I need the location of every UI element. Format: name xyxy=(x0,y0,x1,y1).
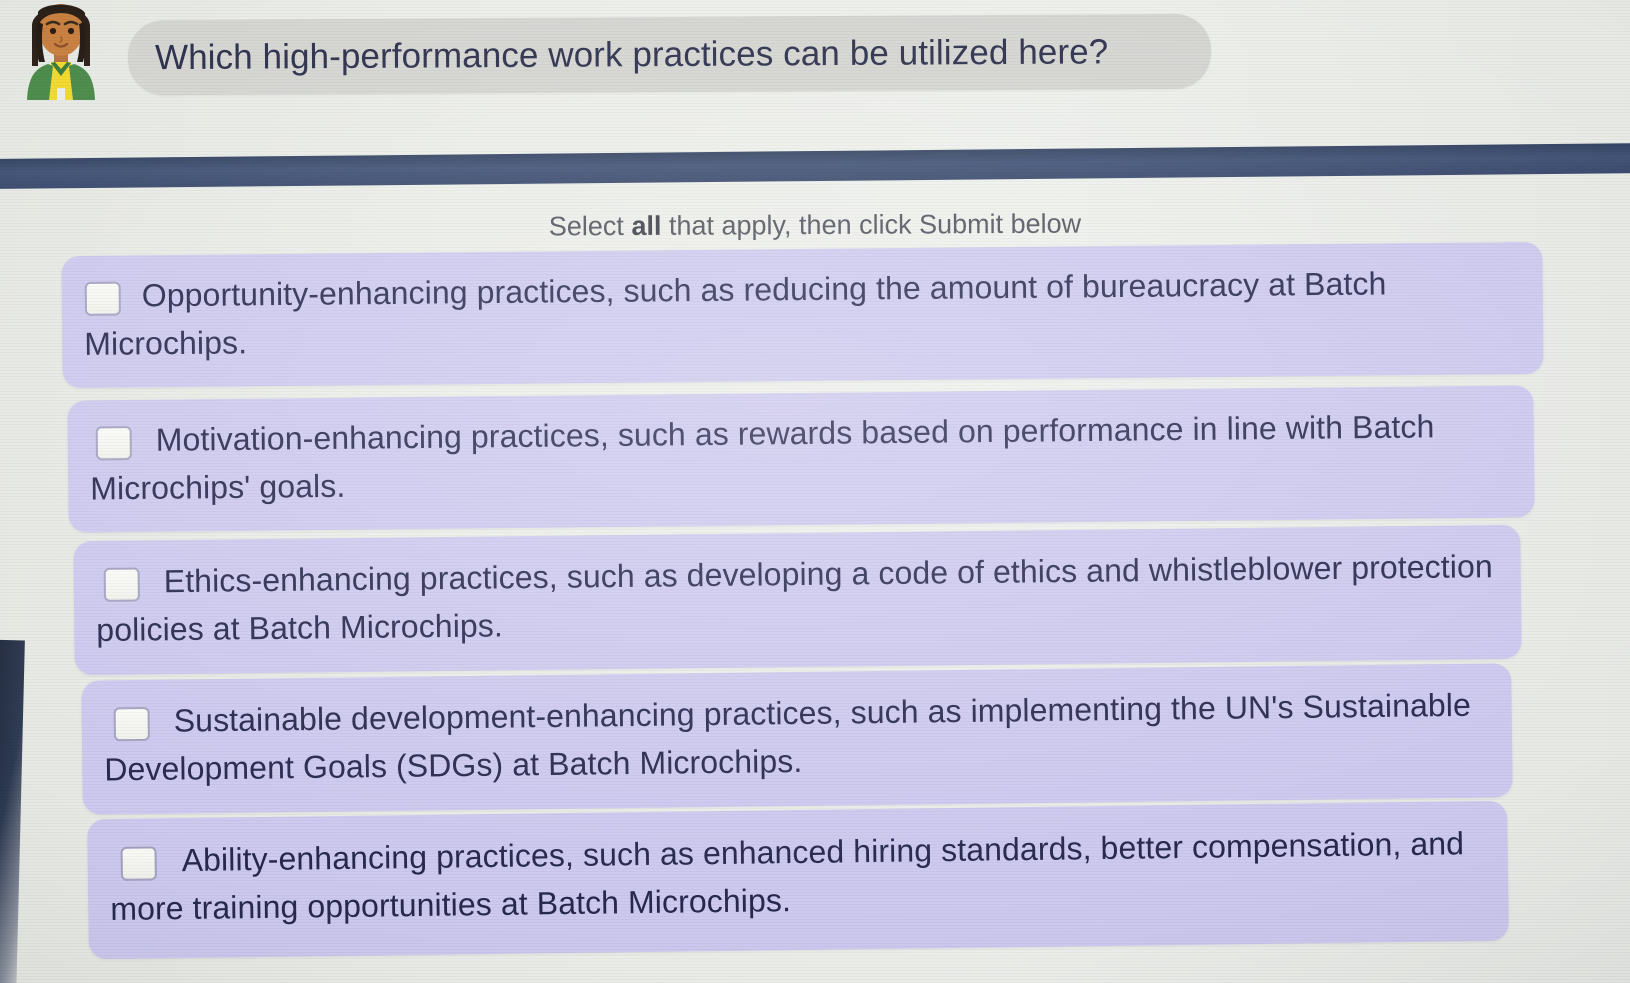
checkbox-sustainable-development-enhancing[interactable] xyxy=(114,707,150,741)
answer-option-ethics-enhancing[interactable]: Ethics-enhancing practices, such as deve… xyxy=(73,525,1521,675)
avatar xyxy=(18,0,104,100)
checkbox-ability-enhancing[interactable] xyxy=(121,846,157,880)
answer-option-sustainable-development-enhancing[interactable]: Sustainable development-enhancing practi… xyxy=(81,663,1513,814)
quiz-screen-photo: Which high-performance work practices ca… xyxy=(0,0,1630,983)
checkbox-motivation-enhancing[interactable] xyxy=(96,426,132,460)
instruction-suffix: that apply, then click Submit below xyxy=(661,209,1081,241)
question-region: Which high-performance work practices ca… xyxy=(0,0,1630,150)
instruction-prefix: Select xyxy=(549,211,632,241)
answer-option-ability-enhancing[interactable]: Ability-enhancing practices, such as enh… xyxy=(87,801,1509,960)
answer-option-motivation-enhancing[interactable]: Motivation-enhancing practices, such as … xyxy=(67,385,1534,532)
answer-option-opportunity-enhancing[interactable]: Opportunity-enhancing practices, such as… xyxy=(61,242,1543,388)
answer-option-label: Ability-enhancing practices, such as enh… xyxy=(109,819,1490,933)
answer-option-label: Sustainable development-enhancing practi… xyxy=(103,680,1499,793)
student-avatar-icon xyxy=(18,0,104,100)
checkbox-ethics-enhancing[interactable] xyxy=(104,567,140,601)
checkbox-opportunity-enhancing[interactable] xyxy=(85,282,121,316)
instruction-emphasis: all xyxy=(631,211,661,241)
question-title: Which high-performance work practices ca… xyxy=(155,30,1195,80)
answer-option-label: Ethics-enhancing practices, such as deve… xyxy=(95,542,1506,654)
answer-option-label: Opportunity-enhancing practices, such as… xyxy=(84,258,1525,368)
answer-option-label: Motivation-enhancing practices, such as … xyxy=(90,401,1521,512)
